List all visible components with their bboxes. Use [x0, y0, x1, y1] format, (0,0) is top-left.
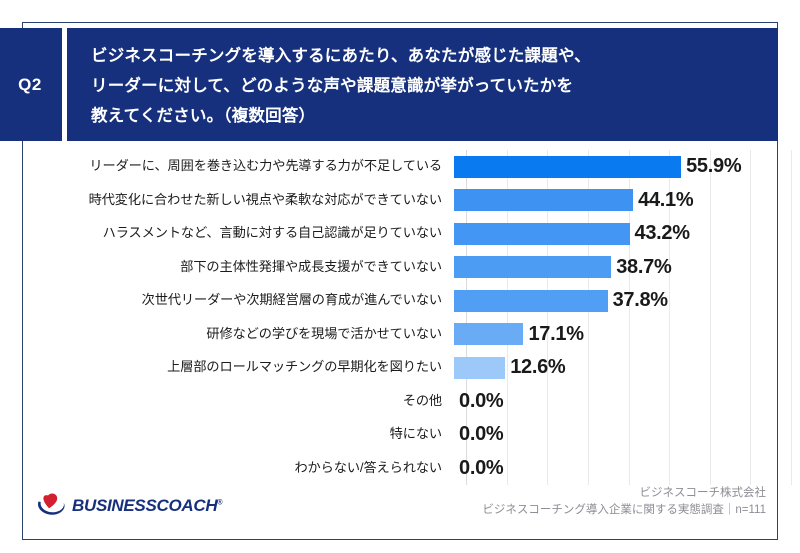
question-number-label: Q2	[18, 75, 42, 95]
bar	[454, 223, 630, 245]
category-label: 部下の主体性発揮や成長支援ができていない	[24, 260, 454, 275]
registered-mark: ®	[217, 499, 222, 506]
credit-survey: ビジネスコーチング導入企業に関する実態調査｜n=111	[482, 502, 766, 519]
question-line-3: 教えてください。（複数回答）	[91, 101, 762, 131]
bar	[454, 156, 681, 178]
bar-value-label: 44.1%	[638, 189, 693, 212]
chart-rows: リーダーに、周囲を巻き込む力や先導する力が不足している55.9%時代変化に合わせ…	[24, 150, 776, 485]
question-line-1: ビジネスコーチングを導入するにあたり、あなたが感じた課題や、	[91, 41, 762, 71]
bar-track: 44.1%	[454, 184, 776, 218]
chart-row: わからない/答えられない0.0%	[24, 452, 776, 486]
category-label: リーダーに、周囲を巻き込む力や先導する力が不足している	[24, 159, 454, 174]
category-label: 次世代リーダーや次期経営層の育成が進んでいない	[24, 293, 454, 308]
chart-row: 研修などの学びを現場で活かせていない17.1%	[24, 318, 776, 352]
businesscoach-logo: BUSINESSCOACH®	[36, 491, 222, 521]
category-label: 上層部のロールマッチングの早期化を図りたい	[24, 360, 454, 375]
chart-row: ハラスメントなど、言動に対する自己認識が足りていない43.2%	[24, 217, 776, 251]
bar-value-label: 43.2%	[635, 222, 690, 245]
bar-track: 43.2%	[454, 217, 776, 251]
slide-canvas: Q2 ビジネスコーチングを導入するにあたり、あなたが感じた課題や、 リーダーに対…	[0, 0, 800, 553]
bar-track: 0.0%	[454, 385, 776, 419]
bar-value-label: 0.0%	[459, 457, 503, 480]
source-credit: ビジネスコーチ株式会社 ビジネスコーチング導入企業に関する実態調査｜n=111	[482, 485, 766, 519]
bar-track: 0.0%	[454, 452, 776, 486]
chart-row: リーダーに、周囲を巻き込む力や先導する力が不足している55.9%	[24, 150, 776, 184]
bar-value-label: 17.1%	[528, 323, 583, 346]
bar-track: 17.1%	[454, 318, 776, 352]
chart-row: 部下の主体性発揮や成長支援ができていない38.7%	[24, 251, 776, 285]
bar-value-label: 55.9%	[686, 155, 741, 178]
credit-company: ビジネスコーチ株式会社	[482, 485, 766, 502]
bar-value-label: 0.0%	[459, 390, 503, 413]
bar	[454, 256, 611, 278]
bar-track: 55.9%	[454, 150, 776, 184]
question-header-box: ビジネスコーチングを導入するにあたり、あなたが感じた課題や、 リーダーに対して、…	[67, 28, 778, 141]
logo-wordmark-text: BUSINESSCOACH	[72, 496, 217, 515]
bar-chart: リーダーに、周囲を巻き込む力や先導する力が不足している55.9%時代変化に合わせ…	[24, 150, 776, 485]
bar	[454, 189, 633, 211]
bar-value-label: 12.6%	[510, 356, 565, 379]
category-label: ハラスメントなど、言動に対する自己認識が足りていない	[24, 226, 454, 241]
slide-footer: BUSINESSCOACH® ビジネスコーチ株式会社 ビジネスコーチング導入企業…	[24, 487, 776, 537]
gridline	[791, 150, 792, 485]
bar	[454, 290, 608, 312]
chart-row: 上層部のロールマッチングの早期化を図りたい12.6%	[24, 351, 776, 385]
category-label: 特にない	[24, 427, 454, 442]
category-label: その他	[24, 394, 454, 409]
logo-wordmark: BUSINESSCOACH®	[72, 496, 222, 516]
bar-value-label: 38.7%	[616, 256, 671, 279]
bar-value-label: 37.8%	[613, 289, 668, 312]
chart-row: 特にない0.0%	[24, 418, 776, 452]
chart-row: その他0.0%	[24, 385, 776, 419]
category-label: わからない/答えられない	[24, 461, 454, 476]
bar-track: 38.7%	[454, 251, 776, 285]
bar	[454, 323, 523, 345]
bar-track: 37.8%	[454, 284, 776, 318]
bar-track: 12.6%	[454, 351, 776, 385]
bar-track: 0.0%	[454, 418, 776, 452]
heart-swoosh-icon	[36, 492, 70, 520]
question-number-badge: Q2	[0, 28, 62, 141]
bar	[454, 357, 505, 379]
chart-row: 次世代リーダーや次期経営層の育成が進んでいない37.8%	[24, 284, 776, 318]
chart-row: 時代変化に合わせた新しい視点や柔軟な対応ができていない44.1%	[24, 184, 776, 218]
bar-value-label: 0.0%	[459, 423, 503, 446]
question-line-2: リーダーに対して、どのような声や課題意識が挙がっていたかを	[91, 71, 762, 101]
category-label: 研修などの学びを現場で活かせていない	[24, 327, 454, 342]
category-label: 時代変化に合わせた新しい視点や柔軟な対応ができていない	[24, 193, 454, 208]
